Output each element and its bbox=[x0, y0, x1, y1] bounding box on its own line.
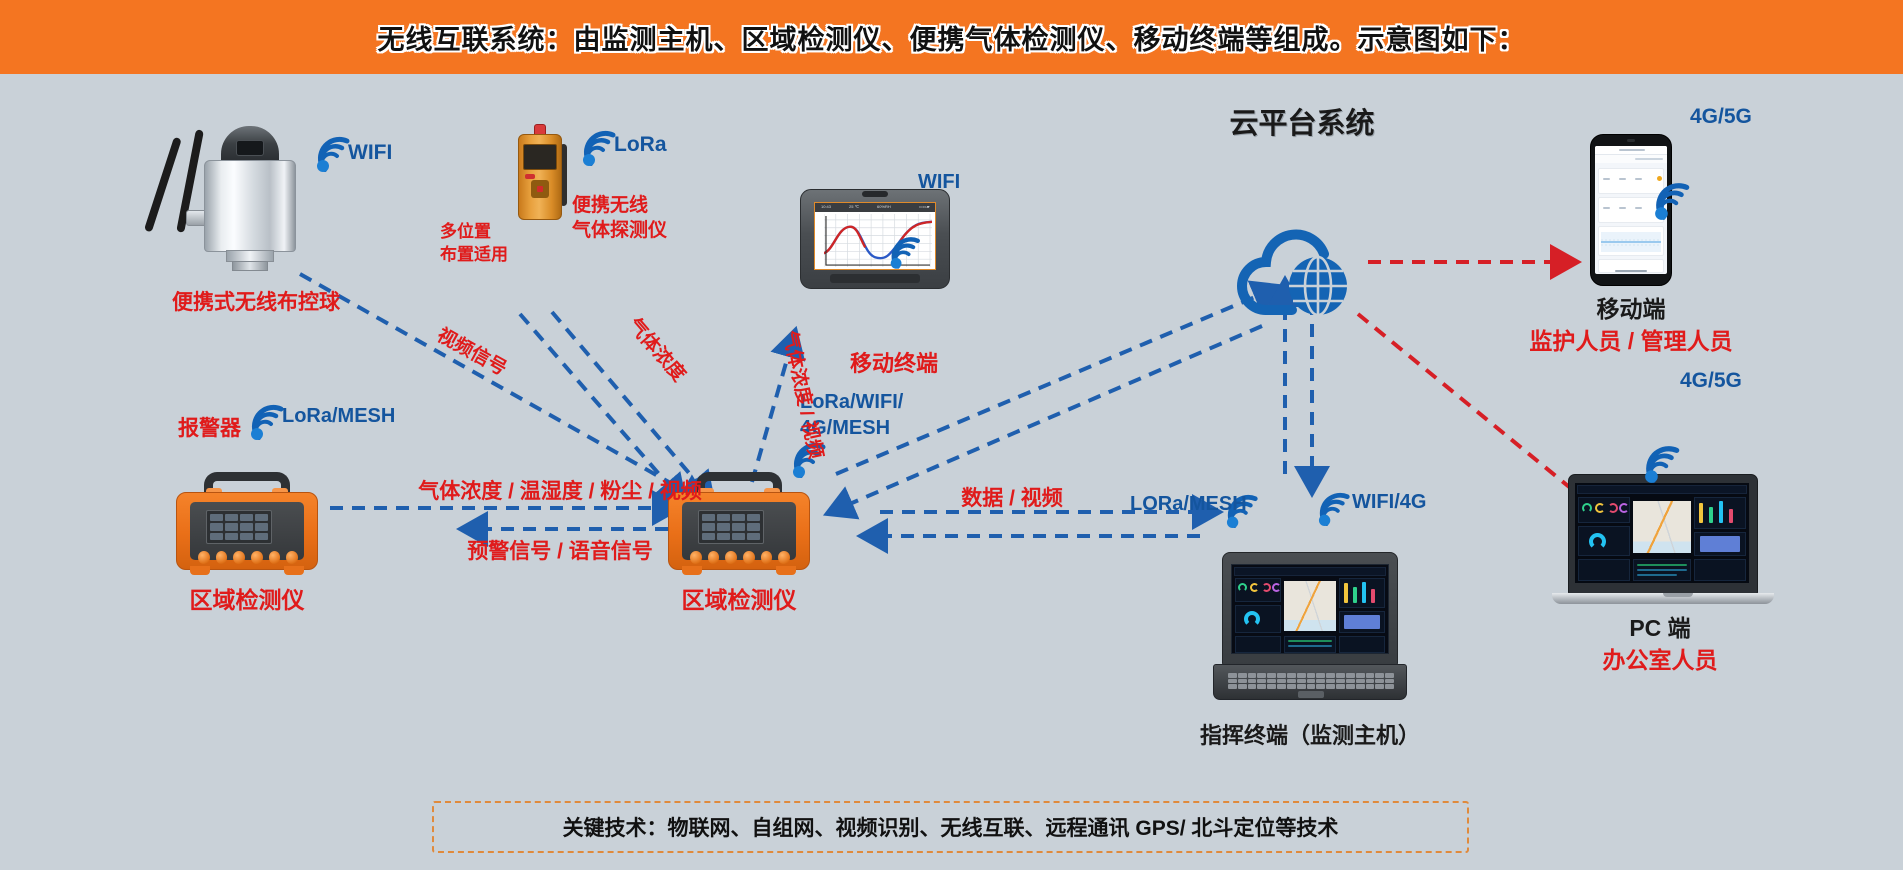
node-mobile-tablet[interactable]: 10:43 25 ℃ 60%RH ▭▭▰ bbox=[800, 189, 950, 289]
phone-sublabel: 监护人员 / 管理人员 bbox=[1529, 327, 1732, 356]
handheld-label-line2: 气体探测仪 bbox=[572, 219, 667, 243]
gauge-purple bbox=[1619, 503, 1629, 513]
phone-metric-line-e bbox=[1619, 207, 1626, 209]
laptop-base-notch bbox=[1663, 593, 1693, 597]
diagram-canvas: WIFI 便携式无线布控球 LoRa 便携无线 气体探测仪 多位置 布置适用 1… bbox=[0, 74, 1903, 870]
node-pc-laptop[interactable] bbox=[1568, 474, 1758, 606]
dashboard-panel-log-left bbox=[1578, 559, 1630, 581]
terminal-touchpad[interactable] bbox=[1298, 691, 1324, 698]
dashboard-titlebar bbox=[1234, 567, 1386, 576]
phone-toolbar-line bbox=[1635, 158, 1663, 160]
gauge-green bbox=[1238, 583, 1247, 592]
phone-metric-line-c bbox=[1635, 178, 1642, 180]
foot-left bbox=[190, 566, 210, 575]
detector-buttons[interactable] bbox=[690, 550, 790, 564]
handheld-note-line1: 多位置 bbox=[440, 221, 491, 242]
pc-signal-label: 4G/5G bbox=[1680, 368, 1742, 394]
tablet-label: 移动终端 bbox=[850, 350, 938, 378]
node-command-terminal[interactable] bbox=[1222, 552, 1398, 702]
phone-header-title-line bbox=[1619, 149, 1645, 151]
camera-body bbox=[204, 160, 296, 252]
log-line-1 bbox=[1637, 564, 1687, 566]
tablet-camera bbox=[862, 191, 888, 197]
node-ball-camera[interactable] bbox=[164, 104, 344, 284]
wifi-icon bbox=[1316, 492, 1354, 526]
bar-4 bbox=[1371, 589, 1375, 603]
gauge-yellow bbox=[1595, 503, 1605, 513]
node-handheld-gas-detector[interactable] bbox=[510, 122, 574, 226]
area-detector-left-label: 区域检测仪 bbox=[190, 586, 305, 615]
bar-3 bbox=[1362, 582, 1366, 603]
video-thumbnail bbox=[1700, 536, 1740, 552]
gauge-green bbox=[1582, 503, 1592, 513]
log-line-1 bbox=[1288, 640, 1332, 642]
log-line-3 bbox=[1637, 574, 1677, 576]
foot-right bbox=[284, 566, 304, 575]
terminal-dashboard bbox=[1232, 565, 1388, 653]
video-thumbnail bbox=[1344, 615, 1380, 629]
key-technologies-text: 关键技术：物联网、自组网、视频识别、无线互联、远程通讯 GPS/ 北斗定位等技术 bbox=[563, 812, 1339, 842]
dashboard-panel-log-right bbox=[1694, 559, 1746, 581]
gauge-red bbox=[1262, 583, 1271, 592]
ball-camera-label: 便携式无线布控球 bbox=[172, 290, 340, 316]
detector-screen bbox=[523, 144, 557, 170]
wifi-icon bbox=[1642, 445, 1684, 483]
handheld-label-line1: 便携无线 bbox=[572, 194, 648, 218]
node-cloud-platform[interactable] bbox=[1232, 214, 1372, 324]
camera-lens bbox=[236, 140, 264, 156]
key-technologies-box: 关键技术：物联网、自组网、视频识别、无线互联、远程通讯 GPS/ 北斗定位等技术 bbox=[432, 801, 1469, 853]
status-battery-icon: ▭▭▰ bbox=[919, 204, 930, 209]
handheld-signal-label: LoRa bbox=[614, 132, 667, 158]
command-terminal-label: 指挥终端（监测主机） bbox=[1200, 722, 1420, 750]
power-button[interactable] bbox=[525, 174, 535, 179]
log-line-2 bbox=[1637, 569, 1687, 571]
donut-chart bbox=[1589, 533, 1606, 550]
area-detector-center-label: 区域检测仪 bbox=[682, 586, 797, 615]
log-line-2 bbox=[1288, 645, 1332, 647]
tablet-status-bar: 10:43 25 ℃ 60%RH ▭▭▰ bbox=[815, 203, 935, 212]
cloud-platform-label: 云平台系统 bbox=[1229, 106, 1374, 142]
phone-label: 移动端 bbox=[1597, 295, 1666, 324]
gauge-purple bbox=[1272, 583, 1281, 592]
gauge-yellow bbox=[1250, 583, 1259, 592]
donut-chart bbox=[1244, 611, 1260, 627]
dashboard-map bbox=[1284, 581, 1336, 631]
camera-base bbox=[232, 261, 268, 271]
foot-right bbox=[776, 566, 796, 575]
detector-display bbox=[698, 510, 764, 544]
dpad[interactable] bbox=[531, 180, 549, 198]
terminal-base bbox=[1213, 664, 1407, 700]
terminal-screen bbox=[1231, 564, 1389, 654]
display-readout-grid bbox=[210, 514, 268, 540]
foot-left bbox=[682, 566, 702, 575]
page-title: 无线互联系统：由监测主机、区域检测仪、便携气体检测仪、移动终端等组成。示意图如下… bbox=[378, 18, 1526, 57]
gauge-red bbox=[1608, 503, 1618, 513]
phone-bottom-bar bbox=[1615, 270, 1647, 272]
pc-label: PC 端 bbox=[1629, 614, 1690, 643]
alarm-label: 报警器 bbox=[178, 416, 241, 442]
terminal-signal-right: WIFI/4G bbox=[1352, 490, 1426, 515]
bar-4 bbox=[1729, 509, 1733, 523]
dashboard-map bbox=[1633, 501, 1691, 553]
wifi-icon bbox=[1652, 182, 1694, 220]
phone-metric-line-a bbox=[1603, 178, 1610, 180]
status-humidity: 60%RH bbox=[877, 204, 891, 209]
phone-chart bbox=[1601, 232, 1661, 252]
link-label-left-to-center-bottom: 预警信号 / 语音信号 bbox=[467, 539, 653, 565]
status-time: 10:43 bbox=[821, 204, 831, 209]
page-header-banner: 无线互联系统：由监测主机、区域检测仪、便携气体检测仪、移动终端等组成。示意图如下… bbox=[0, 0, 1903, 74]
bar-1 bbox=[1344, 583, 1348, 603]
dashboard-panel-log-left bbox=[1235, 636, 1281, 653]
display-readout-grid bbox=[702, 514, 760, 540]
link-label-center-to-terminal: 数据 / 视频 bbox=[961, 486, 1063, 512]
bar-2 bbox=[1709, 507, 1713, 523]
wifi-icon bbox=[888, 236, 924, 269]
laptop-screen bbox=[1575, 483, 1749, 583]
cloud-globe-icon bbox=[1232, 214, 1372, 324]
dashboard-titlebar bbox=[1577, 485, 1747, 494]
bar-2 bbox=[1353, 587, 1357, 603]
tablet-signal-label: WIFI bbox=[918, 170, 960, 195]
node-area-detector-left[interactable] bbox=[176, 472, 318, 578]
link-label-left-to-center-top: 气体浓度 / 温湿度 / 粉尘 / 视频 bbox=[418, 479, 702, 505]
detector-display bbox=[206, 510, 272, 544]
ball-camera-signal-label: WIFI bbox=[348, 140, 392, 166]
phone-signal-label: 4G/5G bbox=[1690, 104, 1752, 130]
status-temp: 25 ℃ bbox=[849, 204, 859, 209]
pc-sublabel: 办公室人员 bbox=[1603, 646, 1718, 675]
terminal-signal-left: LORa/MESH bbox=[1130, 492, 1247, 517]
dashboard-panel-log-right bbox=[1339, 636, 1385, 653]
bar-1 bbox=[1699, 503, 1703, 523]
detector-buttons[interactable] bbox=[198, 550, 298, 564]
phone-metric-line-d bbox=[1603, 207, 1610, 209]
phone-status-dot-warning bbox=[1657, 176, 1662, 181]
phone-speaker bbox=[1627, 139, 1635, 142]
alarm-signal-label: LoRa/MESH bbox=[282, 404, 395, 429]
tablet-handle bbox=[830, 274, 920, 283]
handheld-note-line2: 布置适用 bbox=[440, 244, 508, 265]
phone-metric-line-b bbox=[1619, 178, 1626, 180]
phone-metric-line-f bbox=[1635, 207, 1642, 209]
laptop-dashboard bbox=[1575, 483, 1749, 583]
terminal-keyboard[interactable] bbox=[1228, 673, 1394, 689]
bar-3 bbox=[1719, 501, 1723, 523]
